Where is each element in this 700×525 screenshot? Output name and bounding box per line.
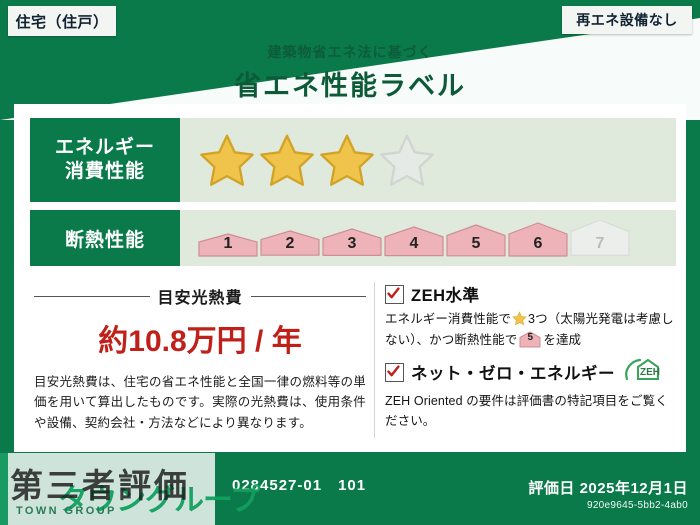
energy-consumption-row: エネルギー 消費性能 bbox=[30, 118, 676, 202]
energy-label-line2: 消費性能 bbox=[65, 160, 145, 184]
renewable-equipment-chip: 再エネ設備なし bbox=[562, 6, 692, 34]
star-empty-icon bbox=[378, 132, 436, 188]
net-zero-energy-block: ネット・ゼロ・エネルギー ZEH ZEH Oriented の要件は評価書の特記… bbox=[385, 357, 674, 433]
checkbox-checked-icon[interactable] bbox=[385, 363, 404, 382]
star-filled-icon bbox=[198, 132, 256, 188]
certificate-number: 0284527-01 101 bbox=[232, 474, 366, 495]
house-level-number: 2 bbox=[260, 235, 320, 253]
page-title: 省エネ性能ラベル bbox=[0, 64, 700, 103]
building-type-chip: 住宅（住戸） bbox=[8, 6, 116, 36]
zeh-body-stars: 3つ bbox=[528, 312, 548, 326]
net-zero-title: ネット・ゼロ・エネルギー bbox=[411, 360, 615, 384]
zeh-standard-block: ZEH水準 エネルギー消費性能で3つ（太陽光発電は考慮しない）、かつ断熱性能で5… bbox=[385, 282, 674, 351]
zeh-panel: ZEH水準 エネルギー消費性能で3つ（太陽光発電は考慮しない）、かつ断熱性能で5… bbox=[385, 278, 676, 442]
footer: ひとことで、ちからを BELS 0284527-01 101 評価日 2025年… bbox=[0, 459, 700, 525]
heading-rule-right bbox=[251, 296, 367, 297]
house-level-4: 4 bbox=[384, 226, 444, 257]
star-filled-icon bbox=[318, 132, 376, 188]
house-level-5: 5 bbox=[446, 224, 506, 257]
content-card: エネルギー 消費性能 断熱性能 1234567 目安光熱費 約10.8万円 / … bbox=[14, 104, 686, 452]
house-level-number: 6 bbox=[508, 235, 568, 253]
label-subtitle: 建築物省エネ法に基づく bbox=[0, 42, 700, 62]
panel-divider bbox=[374, 282, 375, 438]
insulation-performance-row: 断熱性能 1234567 bbox=[30, 210, 676, 266]
evaluation-date: 評価日 2025年12月1日 bbox=[528, 477, 688, 498]
house-level-3: 3 bbox=[322, 228, 382, 256]
utility-cost-heading: 目安光熱費 bbox=[34, 284, 366, 308]
inline-house-icon: 5 bbox=[519, 331, 541, 348]
house-level-6: 6 bbox=[508, 222, 568, 257]
utility-cost-note: 目安光熱費は、住宅の省エネ性能と全国一律の燃料等の単価を用いて算出したものです。… bbox=[34, 372, 366, 433]
checkbox-checked-icon[interactable] bbox=[385, 285, 404, 304]
zeh-standard-title: ZEH水準 bbox=[411, 282, 480, 306]
net-zero-body: ZEH Oriented の要件は評価書の特記項目をご覧ください。 bbox=[385, 391, 674, 433]
insulation-scale: 1234567 bbox=[180, 210, 676, 266]
house-level-number: 5 bbox=[446, 235, 506, 253]
utility-cost-panel: 目安光熱費 約10.8万円 / 年 目安光熱費は、住宅の省エネ性能と全国一律の燃… bbox=[30, 278, 372, 442]
utility-cost-heading-text: 目安光熱費 bbox=[158, 284, 243, 308]
heading-rule-left bbox=[34, 296, 150, 297]
star-rating bbox=[180, 118, 676, 202]
zeh-standard-header: ZEH水準 bbox=[385, 282, 674, 306]
house-level-list: 1234567 bbox=[198, 219, 630, 256]
title-block: 建築物省エネ法に基づく 省エネ性能ラベル bbox=[0, 42, 700, 103]
star-filled-icon bbox=[258, 132, 316, 188]
zeh-logo-icon: ZEH bbox=[624, 357, 664, 388]
utility-cost-value: 約10.8万円 / 年 bbox=[34, 316, 366, 360]
zeh-body-part3: を達成 bbox=[543, 333, 581, 347]
net-zero-header: ネット・ゼロ・エネルギー ZEH bbox=[385, 357, 674, 388]
house-level-2: 2 bbox=[260, 230, 320, 256]
house-level-number: 4 bbox=[384, 235, 444, 253]
svg-text:ZEH: ZEH bbox=[640, 367, 660, 378]
house-level-1: 1 bbox=[198, 233, 258, 257]
inline-star-icon bbox=[512, 311, 527, 326]
zeh-standard-body: エネルギー消費性能で3つ（太陽光発電は考慮しない）、かつ断熱性能で5を達成 bbox=[385, 309, 674, 351]
energy-performance-label: 住宅（住戸） 再エネ設備なし 建築物省エネ法に基づく 省エネ性能ラベル エネルギ… bbox=[0, 0, 700, 525]
energy-consumption-label: エネルギー 消費性能 bbox=[30, 118, 180, 202]
zeh-body-part1: エネルギー消費性能で bbox=[385, 312, 511, 326]
house-level-7: 7 bbox=[570, 219, 630, 256]
insulation-label: 断熱性能 bbox=[30, 210, 180, 266]
energy-label-line1: エネルギー bbox=[55, 136, 155, 160]
inline-house-level: 5 bbox=[519, 330, 541, 347]
evaluation-uuid: 920e9645-5bb2-4ab0 bbox=[528, 500, 688, 511]
house-level-number: 3 bbox=[322, 235, 382, 253]
evaluation-info: 評価日 2025年12月1日 920e9645-5bb2-4ab0 bbox=[528, 477, 688, 511]
lower-section: 目安光熱費 約10.8万円 / 年 目安光熱費は、住宅の省エネ性能と全国一律の燃… bbox=[30, 278, 676, 442]
house-level-number: 7 bbox=[570, 235, 630, 253]
house-level-number: 1 bbox=[198, 235, 258, 253]
bels-mark: BELS bbox=[58, 478, 135, 509]
